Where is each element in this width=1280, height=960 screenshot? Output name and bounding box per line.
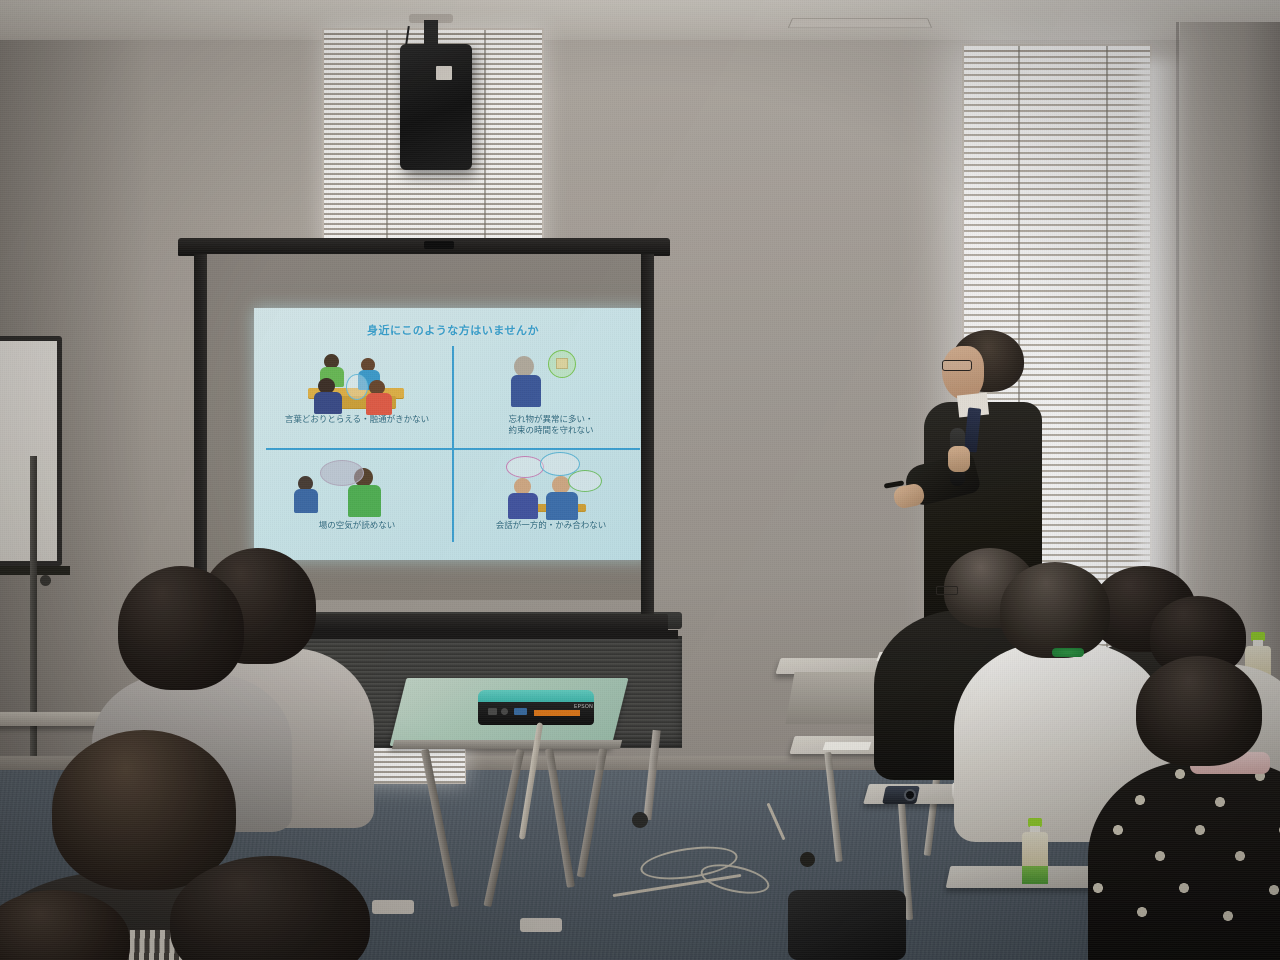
audience-head <box>0 890 130 960</box>
blind-cord[interactable] <box>386 30 388 262</box>
slide-quadrant-top-right: 忘れ物が異常に多い・ 約束の時間を守れない <box>456 348 641 436</box>
glasses-icon <box>936 586 958 595</box>
camera-lens-icon <box>904 789 916 801</box>
speaker-brand-badge <box>436 66 452 80</box>
people-around-table-illustration <box>262 348 452 410</box>
slide-horizontal-divider <box>266 448 640 450</box>
blind-cord[interactable] <box>484 30 486 262</box>
audience-head <box>1136 656 1262 766</box>
slide-vertical-divider <box>452 346 454 542</box>
audience-head <box>1000 562 1110 658</box>
projector-table-foot <box>520 918 562 932</box>
projector-vga-port <box>514 708 527 715</box>
screen-frame-right <box>641 254 654 618</box>
ceiling-speaker-icon <box>400 44 472 170</box>
audience-head <box>118 566 244 690</box>
ceiling-access-panel <box>788 18 932 28</box>
person-with-thought-bubble-illustration <box>456 348 641 410</box>
projector-orange-stripe <box>534 710 580 716</box>
whiteboard-stand-post <box>30 456 37 756</box>
slide-title: 身近にこのような方はいませんか <box>254 322 641 338</box>
audience-bottom-left-striped <box>0 890 170 960</box>
slide-quadrant-top-left: 言葉どおりとらえる・融通がきかない <box>262 348 452 425</box>
slide-quadrant-label: 言葉どおりとらえる・融通がきかない <box>262 414 452 425</box>
side-table-left <box>0 712 110 726</box>
two-people-speech-bubbles-illustration <box>456 454 641 516</box>
bag-on-floor <box>788 890 906 960</box>
screen-pull-handle[interactable] <box>424 241 454 249</box>
slide-quadrant-bottom-left: 場の空気が読めない <box>262 454 452 531</box>
slide-quadrant-label-line2: 約束の時間を守れない <box>508 425 593 435</box>
projector-brand-label: EPSON <box>574 704 593 710</box>
audience-head <box>170 856 370 960</box>
glasses-icon <box>942 360 972 371</box>
projector-table-edge <box>392 740 622 749</box>
projector-icon[interactable]: EPSON <box>478 690 594 728</box>
whiteboard-height-knob[interactable] <box>40 575 51 586</box>
lecture-room-photo: 身近にこのような方はいませんか <box>0 0 1280 960</box>
bottle-label <box>1022 866 1048 884</box>
slide-quadrant-label: 会話が一方的・かみ合わない <box>456 520 641 531</box>
projector-port <box>501 708 508 715</box>
slide-quadrant-bottom-right: 会話が一方的・かみ合わない <box>456 454 641 531</box>
screen-roller-housing <box>298 630 678 639</box>
bottle-body <box>1022 832 1048 880</box>
audience-bottom-center <box>150 856 410 960</box>
slide-quadrant-label-line1: 忘れ物が異常に多い・ <box>508 414 593 424</box>
projected-slide: 身近にこのような方はいませんか <box>254 308 641 560</box>
presenter-hand <box>948 446 970 472</box>
audience-patterned-top <box>1094 656 1280 960</box>
folded-table-caster <box>632 812 648 828</box>
projector-port <box>488 708 497 715</box>
two-people-awkward-illustration <box>262 454 452 516</box>
audience-torso <box>1088 760 1280 960</box>
slide-quadrant-label: 場の空気が読めない <box>262 520 452 531</box>
shirt-embroidery <box>1052 648 1084 657</box>
paper-stack <box>823 742 872 750</box>
slide-quadrant-label: 忘れ物が異常に多い・ 約束の時間を守れない <box>456 414 641 436</box>
presenter-face <box>942 346 984 400</box>
table-caster <box>800 852 815 867</box>
